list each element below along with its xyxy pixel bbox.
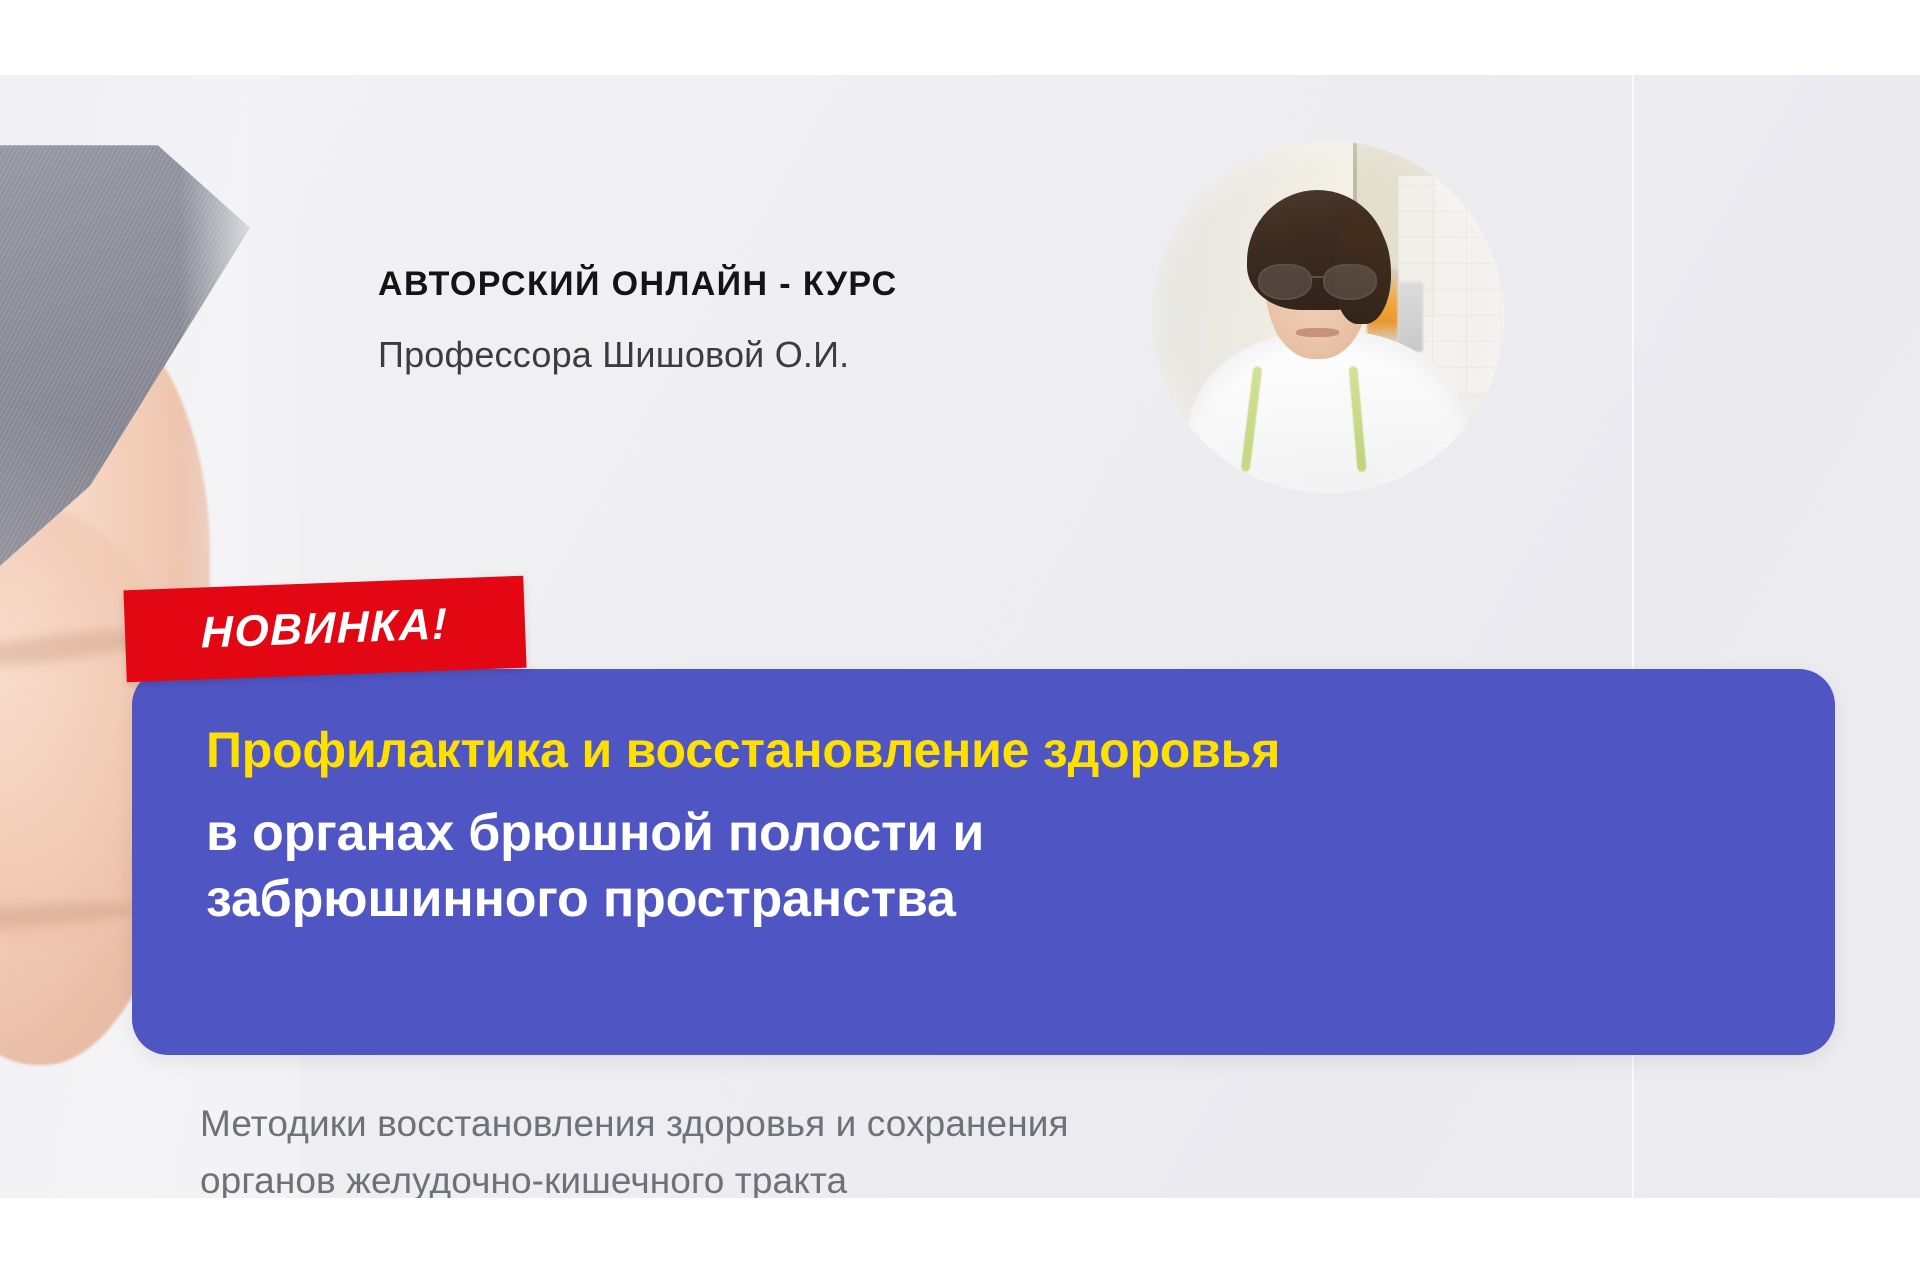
author-portrait-avatar [1152,141,1504,493]
description-line-1: Методики восстановления здоровья и сохра… [200,1095,1600,1152]
course-kicker: АВТОРСКИЙ ОНЛАЙН - КУРС [378,265,1078,304]
description-line-2: органов желудочно-кишечного тракта [200,1152,1600,1198]
new-badge: НОВИНКА! [123,576,526,683]
headline-card: Профилактика и восстановление здоровья в… [132,669,1835,1055]
course-description: Методики восстановления здоровья и сохра… [200,1095,1600,1198]
portrait-vignette [1152,141,1504,493]
course-promo-banner: АВТОРСКИЙ ОНЛАЙН - КУРС Профессора Шишов… [0,75,1920,1198]
course-title-block: АВТОРСКИЙ ОНЛАЙН - КУРС Профессора Шишов… [378,265,1078,376]
headline-highlight: Профилактика и восстановление здоровья [206,723,1795,777]
new-badge-label: НОВИНКА! [201,599,448,658]
banner-root: АВТОРСКИЙ ОНЛАЙН - КУРС Профессора Шишов… [0,0,1920,1280]
headline-line-2: в органах брюшной полости и [206,801,1795,867]
course-author: Профессора Шишовой О.И. [378,334,1078,376]
headline-card-content: Профилактика и восстановление здоровья в… [206,723,1795,932]
headline-line-3: забрюшинного пространства [206,867,1795,933]
